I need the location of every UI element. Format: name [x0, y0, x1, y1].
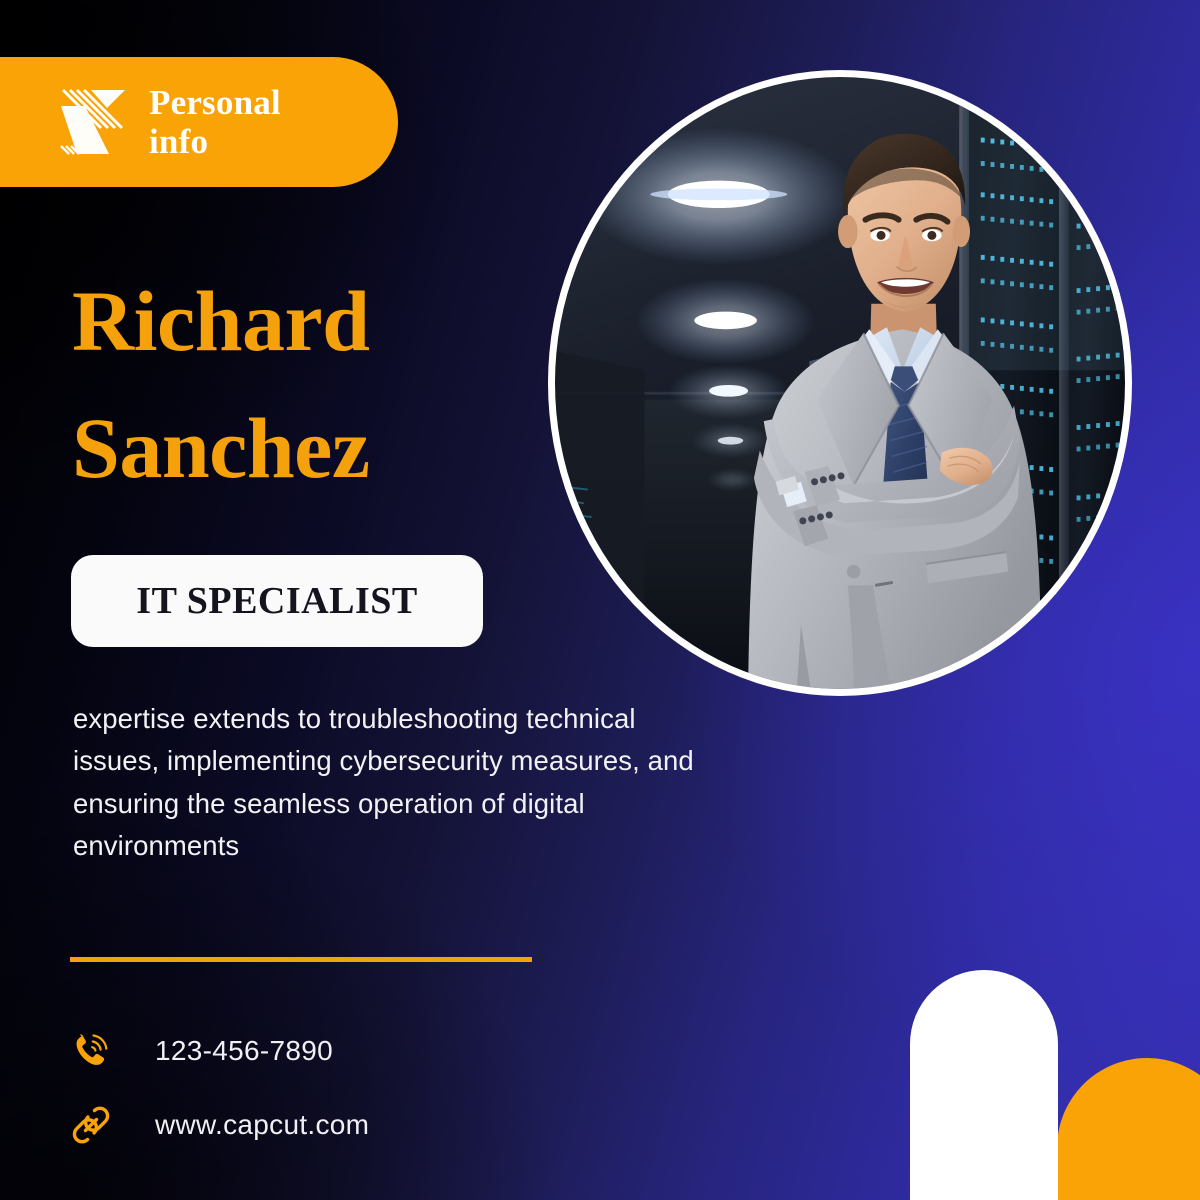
contact-row-phone[interactable]: 123-456-7890	[70, 1020, 590, 1082]
profile-card: Personal info Richard Sanchez IT SPECIAL…	[0, 0, 1200, 1200]
phone-icon	[70, 1030, 112, 1072]
divider-line	[70, 957, 532, 962]
decor-arch-white	[910, 970, 1058, 1200]
profile-photo-clip	[555, 77, 1125, 689]
personal-info-badge-label: Personal info	[149, 83, 281, 161]
description-text: expertise extends to troubleshooting tec…	[73, 698, 723, 867]
badge-line-1: Personal	[149, 83, 281, 122]
phone-value: 123-456-7890	[155, 1035, 333, 1067]
badge-line-2: info	[149, 122, 208, 161]
person-name: Richard Sanchez	[72, 258, 542, 513]
server-room-portrait-illustration	[555, 77, 1125, 689]
website-value: www.capcut.com	[155, 1109, 369, 1141]
role-label: IT SPECIALIST	[136, 579, 417, 623]
personal-info-badge[interactable]: Personal info	[0, 57, 398, 187]
link-icon	[70, 1104, 112, 1146]
contact-row-website[interactable]: www.capcut.com	[70, 1094, 590, 1156]
role-badge: IT SPECIALIST	[71, 555, 483, 647]
contact-list: 123-456-7890 www.capcut.com	[70, 1020, 590, 1168]
first-name: Richard	[72, 258, 542, 385]
capcut-chevron-logo-icon	[55, 86, 127, 158]
last-name: Sanchez	[72, 385, 542, 512]
profile-photo	[548, 70, 1132, 696]
